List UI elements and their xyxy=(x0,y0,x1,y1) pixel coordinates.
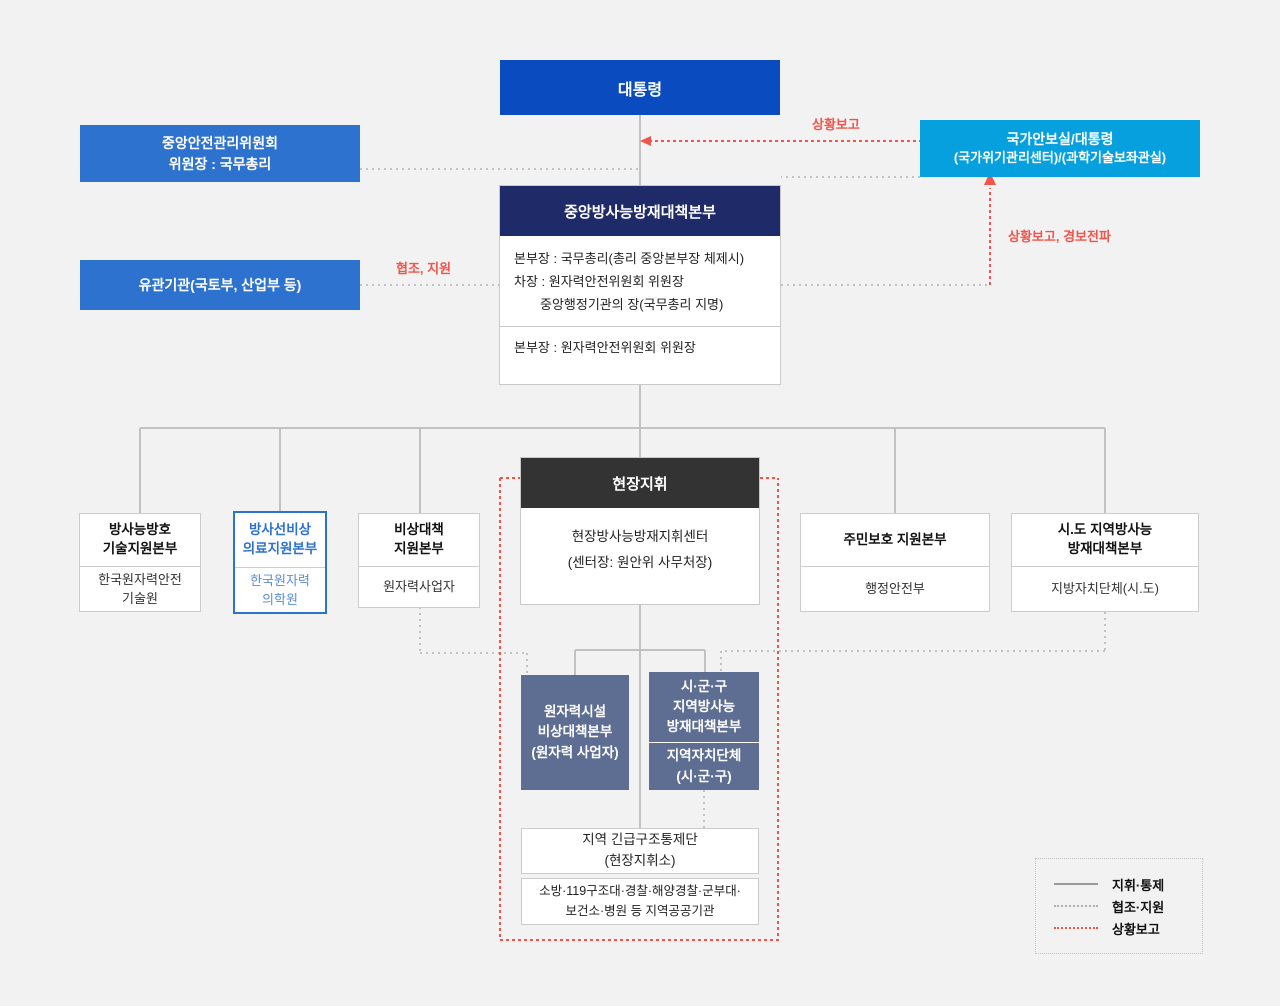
nuclear-facility-line1: 원자력시설 xyxy=(544,702,606,722)
emergency-support-org: 원자력사업자 xyxy=(359,567,479,608)
node-nuclear-facility-hq[interactable]: 원자력시설 비상대책본부 (원자력 사업자) xyxy=(521,675,629,790)
central-hq-bottom-rows: 본부장 : 원자력안전위원회 위원장 xyxy=(500,327,780,370)
node-rescue-control[interactable]: 지역 긴급구조통제단 (현장지휘소) xyxy=(521,828,759,874)
node-related-agencies[interactable]: 유관기관(국토부, 산업부 등) xyxy=(80,260,360,310)
related-agencies-label: 유관기관(국토부, 산업부 등) xyxy=(139,275,302,296)
edge-label-situation-report: 상황보고 xyxy=(812,114,860,133)
central-hq-row-2: 중앙행정기관의 장(국무총리 지명) xyxy=(514,294,766,317)
sigungu-hq-org-line2: (시·군·구) xyxy=(676,767,731,787)
legend-label-1: 협조·지원 xyxy=(1112,897,1164,916)
sido-hq-org: 지방자치단체(시.도) xyxy=(1012,567,1198,612)
node-national-security-office[interactable]: 국가안보실/대통령 (국가위기관리센터)/(과학기술보좌관실) xyxy=(920,120,1200,177)
central-hq-header: 중앙방사능방재대책본부 xyxy=(500,186,780,236)
public-agencies-line1: 소방·119구조대·경찰·해양경찰·군부대· xyxy=(539,882,741,901)
legend-label-2: 상황보고 xyxy=(1112,919,1160,938)
node-emergency-support-hq[interactable]: 비상대책 지원본부 원자력사업자 xyxy=(358,513,480,608)
tech-support-title: 방사능방호 기술지원본부 xyxy=(80,514,200,566)
node-central-radiation-hq[interactable]: 중앙방사능방재대책본부 본부장 : 국무총리(총리 중앙본부장 체제시) 차장 … xyxy=(499,185,781,385)
sigungu-hq-line1: 시·군·구 xyxy=(681,677,727,697)
central-safety-committee-line1: 중앙안전관리위원회 xyxy=(162,133,278,154)
rescue-control-line2: (현장지휘소) xyxy=(604,851,675,872)
sigungu-hq-org-line1: 지역자치단체 xyxy=(667,746,742,766)
rescue-control-line1: 지역 긴급구조통제단 xyxy=(582,830,698,851)
field-command-body: 현장방사능방재지휘센터 (센터장: 원안위 사무처장) xyxy=(521,508,759,591)
emergency-support-title: 비상대책 지원본부 xyxy=(359,514,479,566)
legend-item-0: 지휘·통제 xyxy=(1054,873,1184,895)
central-hq-rows: 본부장 : 국무총리(총리 중앙본부장 체제시) 차장 : 원자력안전위원회 위… xyxy=(500,236,780,326)
node-tech-support-hq[interactable]: 방사능방호 기술지원본부 한국원자력안전 기술원 xyxy=(79,513,201,612)
sigungu-hq-line2: 지역방사능 xyxy=(673,697,735,717)
nuclear-facility-line2: 비상대책본부 xyxy=(538,722,613,742)
sigungu-hq-org: 지역자치단체 (시·군·구) xyxy=(649,743,759,790)
legend-item-2: 상황보고 xyxy=(1054,917,1184,939)
medical-support-title: 방사선비상 의료지원본부 xyxy=(235,513,325,567)
central-hq-row-bottom: 본부장 : 원자력안전위원회 위원장 xyxy=(514,338,766,359)
field-command-line2: (센터장: 원안위 사무처장) xyxy=(531,550,749,576)
public-agencies-line2: 보건소·병원 등 지역공공기관 xyxy=(565,902,714,921)
sigungu-hq-title: 시·군·구 지역방사능 방재대책본부 xyxy=(649,672,759,742)
legend-dotted-line-icon xyxy=(1054,905,1098,907)
sigungu-hq-line3: 방재대책본부 xyxy=(667,717,742,737)
president-label: 대통령 xyxy=(618,76,662,100)
tech-support-org: 한국원자력안전 기술원 xyxy=(80,567,200,612)
field-command-header: 현장지휘 xyxy=(521,458,759,508)
security-office-line2: (국가위기관리센터)/(과학기술보좌관실) xyxy=(954,149,1166,168)
legend-label-0: 지휘·통제 xyxy=(1112,875,1164,894)
legend-red-dotted-line-icon xyxy=(1054,927,1098,929)
org-chart-diagram: 대통령 중앙안전관리위원회 위원장 : 국무총리 유관기관(국토부, 산업부 등… xyxy=(0,0,1280,1006)
node-sido-hq[interactable]: 시.도 지역방사능 방재대책본부 지방자치단체(시.도) xyxy=(1011,513,1199,612)
resident-protection-org: 행정안전부 xyxy=(801,567,989,612)
edge-label-cooperation-support: 협조, 지원 xyxy=(396,258,451,277)
edge-label-report-and-alert: 상황보고, 경보전파 xyxy=(1008,226,1111,245)
legend: 지휘·통제 협조·지원 상황보고 xyxy=(1035,858,1203,954)
central-hq-row-0: 본부장 : 국무총리(총리 중앙본부장 체제시) xyxy=(514,248,766,271)
legend-solid-line-icon xyxy=(1054,883,1098,885)
nuclear-facility-line3: (원자력 사업자) xyxy=(531,743,618,763)
field-command-line1: 현장방사능방재지휘센터 xyxy=(531,524,749,550)
legend-item-1: 협조·지원 xyxy=(1054,895,1184,917)
node-president[interactable]: 대통령 xyxy=(500,60,780,115)
central-safety-committee-line2: 위원장 : 국무총리 xyxy=(169,154,272,175)
sido-hq-title: 시.도 지역방사능 방재대책본부 xyxy=(1012,514,1198,566)
node-field-command[interactable]: 현장지휘 현장방사능방재지휘센터 (센터장: 원안위 사무처장) xyxy=(520,457,760,605)
medical-support-org: 한국원자력 의학원 xyxy=(235,568,325,613)
node-medical-support-hq[interactable]: 방사선비상 의료지원본부 한국원자력 의학원 xyxy=(233,511,327,614)
resident-protection-title: 주민보호 지원본부 xyxy=(801,514,989,566)
node-public-agencies[interactable]: 소방·119구조대·경찰·해양경찰·군부대· 보건소·병원 등 지역공공기관 xyxy=(521,878,759,925)
node-resident-protection-hq[interactable]: 주민보호 지원본부 행정안전부 xyxy=(800,513,990,612)
node-central-safety-committee[interactable]: 중앙안전관리위원회 위원장 : 국무총리 xyxy=(80,125,360,182)
node-sigungu-hq[interactable]: 시·군·구 지역방사능 방재대책본부 지역자치단체 (시·군·구) xyxy=(649,672,759,790)
central-hq-row-1: 차장 : 원자력안전위원회 위원장 xyxy=(514,271,766,294)
security-office-line1: 국가안보실/대통령 xyxy=(1007,129,1114,149)
